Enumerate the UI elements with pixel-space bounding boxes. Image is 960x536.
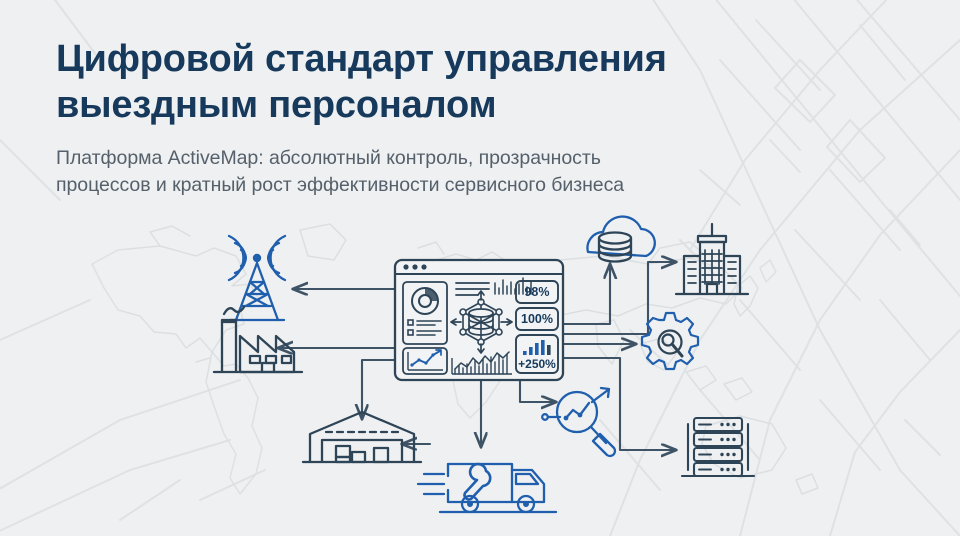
hero-text-block: Цифровой стандарт управления выездным пе… (56, 36, 816, 200)
connector-to-warehouse (362, 360, 397, 419)
kpi-value-growth: +250% (518, 357, 556, 371)
window-dots (403, 264, 426, 269)
factory-icon (214, 307, 302, 372)
kpi-value-completion: 100% (521, 312, 553, 326)
service-truck-icon (418, 464, 556, 512)
page-title: Цифровой стандарт управления выездным пе… (56, 36, 816, 129)
magnifier-chart-icon (542, 388, 615, 456)
dashboard-window[interactable]: 98% 100% +250% (395, 260, 563, 380)
server-rack-icon (682, 418, 754, 476)
page-subtitle: Платформа ActiveMap: абсолютный контроль… (56, 145, 816, 200)
cloud-database-icon (587, 217, 654, 262)
kpi-value-uptime: 98% (524, 285, 549, 299)
connector-to-servers (560, 358, 676, 450)
integration-diagram: 98% 100% +250% (0, 212, 960, 536)
connector-to-cloud (560, 264, 610, 324)
slide-canvas: Цифровой стандарт управления выездным пе… (0, 0, 960, 536)
radio-tower-icon (229, 236, 285, 320)
